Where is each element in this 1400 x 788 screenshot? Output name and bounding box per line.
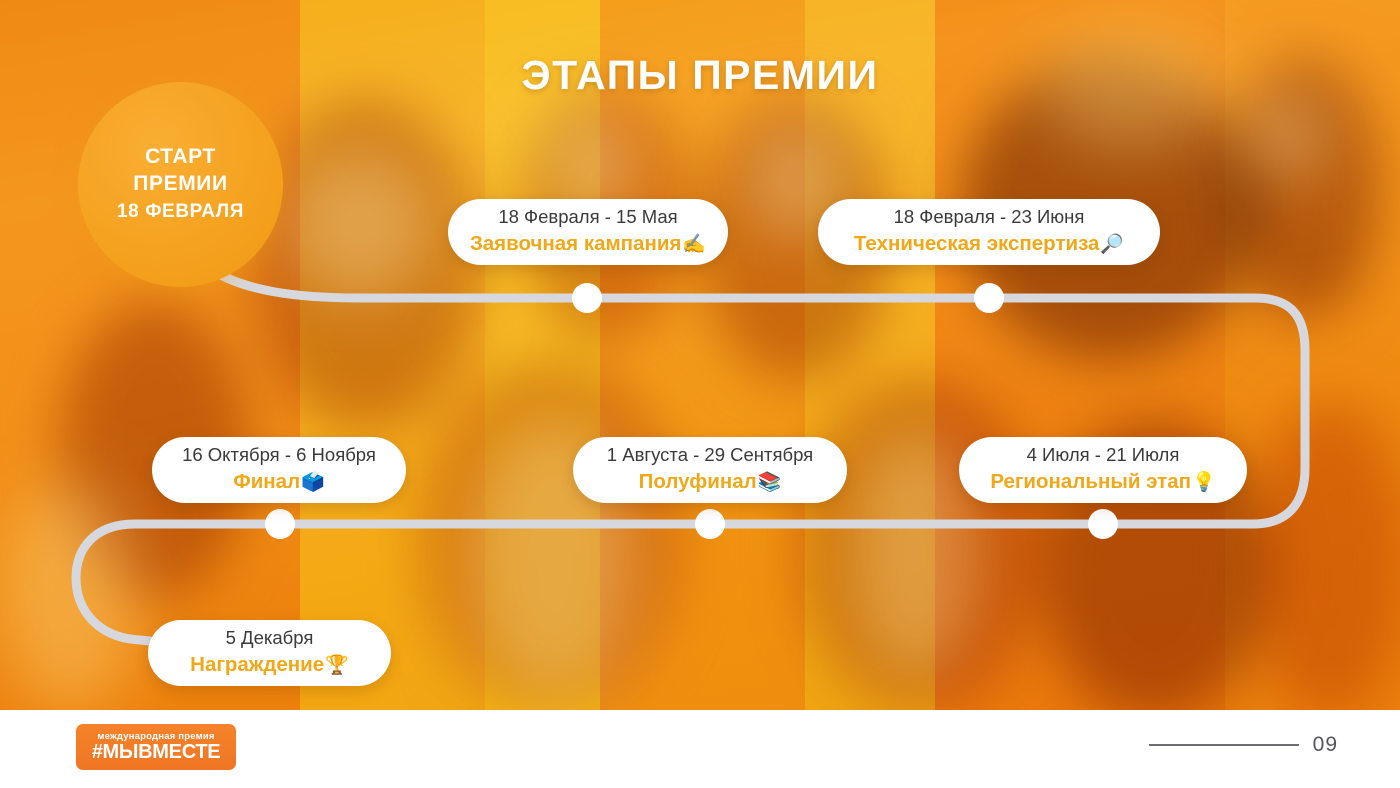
stage-name: Техническая экспертиза🔎: [854, 231, 1124, 258]
stage-name: Полуфинал📚: [639, 469, 782, 496]
stage-date: 18 Февраля - 23 Июня: [894, 205, 1085, 230]
brand-logo: международная премия #МЫВМЕСТЕ: [76, 724, 236, 770]
stage-card-application-campaign[interactable]: 18 Февраля - 15 Мая Заявочная кампания✍️: [448, 199, 728, 265]
stage-name: Финал🗳️: [233, 469, 325, 496]
stage-name-text: Награждение: [190, 653, 324, 676]
slide-root: ЭТАПЫ ПРЕМИИ СТАРТ ПРЕМИИ 18 ФЕВРАЛЯ 18 …: [0, 0, 1400, 788]
start-badge-line2: ПРЕМИИ: [133, 171, 227, 198]
lightbulb-icon: 💡: [1192, 472, 1216, 493]
stage-name-text: Полуфинал: [639, 470, 757, 493]
stage-date: 5 Декабря: [226, 626, 314, 651]
stage-name: Заявочная кампания✍️: [470, 231, 706, 258]
stage-card-regional-stage[interactable]: 4 Июля - 21 Июля Региональный этап💡: [959, 437, 1247, 503]
stage-name-text: Техническая экспертиза: [854, 232, 1099, 255]
stage-date: 16 Октября - 6 Ноября: [182, 443, 376, 468]
stage-date: 4 Июля - 21 Июля: [1027, 443, 1180, 468]
page-number-rule: [1149, 744, 1299, 746]
logo-wordmark: #МЫВМЕСТЕ: [92, 742, 221, 763]
timeline-dot: [695, 509, 725, 539]
stage-card-technical-expertise[interactable]: 18 Февраля - 23 Июня Техническая эксперт…: [818, 199, 1160, 265]
timeline-dot: [265, 509, 295, 539]
start-badge-line1: СТАРТ: [145, 144, 216, 171]
timeline-dot: [572, 283, 602, 313]
stage-name: Региональный этап💡: [990, 469, 1215, 496]
stage-name-text: Финал: [233, 470, 300, 493]
stage-name: Награждение🏆: [190, 652, 349, 679]
stage-name-text: Региональный этап: [990, 470, 1191, 493]
timeline-dot: [1088, 509, 1118, 539]
magnifier-icon: 🔎: [1100, 234, 1124, 255]
stage-date: 1 Августа - 29 Сентября: [607, 443, 813, 468]
stage-card-final[interactable]: 16 Октября - 6 Ноября Финал🗳️: [152, 437, 406, 503]
stage-date: 18 Февраля - 15 Мая: [498, 205, 677, 230]
trophy-icon: 🏆: [325, 655, 349, 676]
writing-hand-icon: ✍️: [682, 234, 706, 255]
start-badge: СТАРТ ПРЕМИИ 18 ФЕВРАЛЯ: [78, 82, 283, 287]
timeline-dot: [974, 283, 1004, 313]
ballot-box-icon: 🗳️: [301, 472, 325, 493]
stage-name-text: Заявочная кампания: [470, 232, 681, 255]
books-icon: 📚: [758, 472, 782, 493]
stage-card-award-ceremony[interactable]: 5 Декабря Награждение🏆: [148, 620, 391, 686]
page-number-group: 09: [1149, 733, 1338, 757]
page-number: 09: [1313, 733, 1338, 757]
stage-card-semifinal[interactable]: 1 Августа - 29 Сентября Полуфинал📚: [573, 437, 847, 503]
start-badge-line3: 18 ФЕВРАЛЯ: [117, 200, 244, 224]
